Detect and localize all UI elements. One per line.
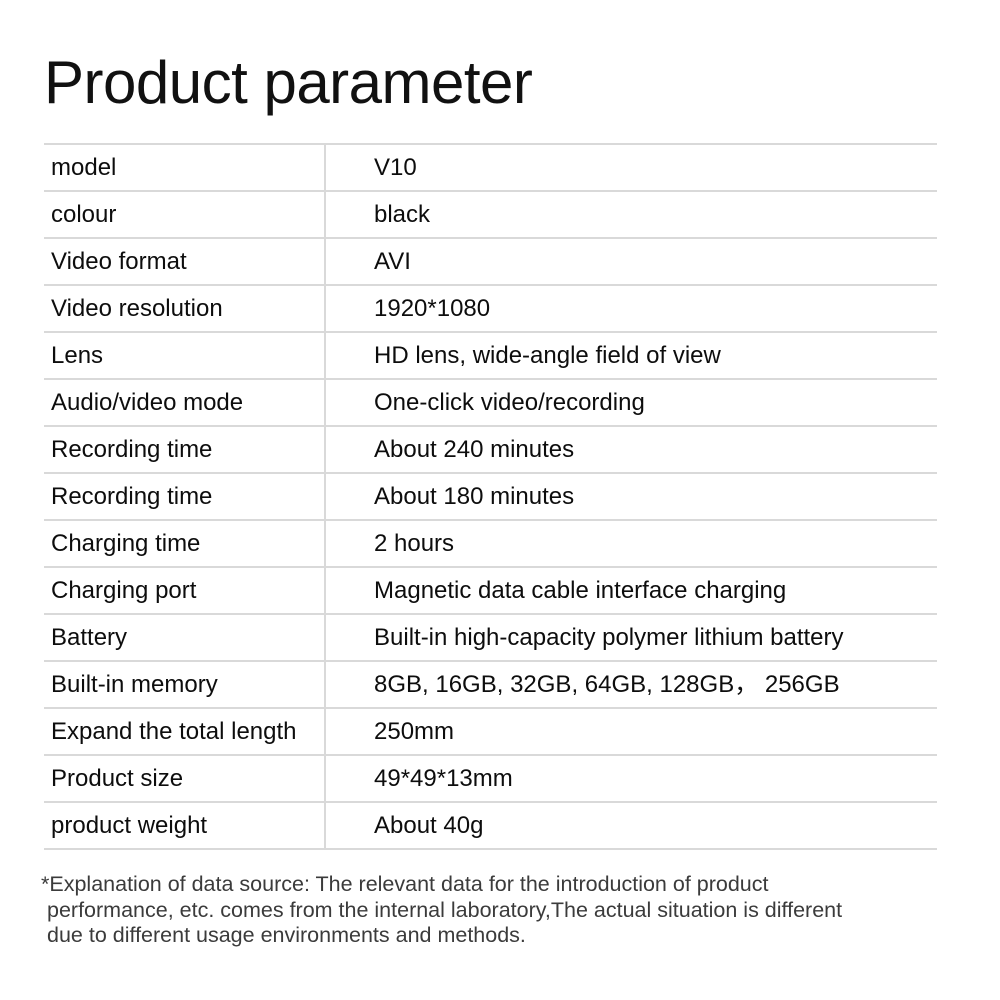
spec-label: Product size xyxy=(44,755,325,802)
spec-value: About 180 minutes xyxy=(325,473,937,520)
spec-label: Video format xyxy=(44,238,325,285)
spec-value: black xyxy=(325,191,937,238)
spec-value: Magnetic data cable interface charging xyxy=(325,567,937,614)
spec-label: Battery xyxy=(44,614,325,661)
data-source-footnote: *Explanation of data source: The relevan… xyxy=(41,872,877,949)
spec-value: 49*49*13mm xyxy=(325,755,937,802)
spec-label: Built-in memory xyxy=(44,661,325,708)
table-row: colour black xyxy=(44,191,937,238)
spec-value: About 240 minutes xyxy=(325,426,937,473)
spec-value: 8GB, 16GB, 32GB, 64GB, 128GB， 256GB xyxy=(325,661,937,708)
spec-label: Recording time xyxy=(44,473,325,520)
spec-label: Charging port xyxy=(44,567,325,614)
table-row: product weight About 40g xyxy=(44,802,937,849)
spec-value: AVI xyxy=(325,238,937,285)
spec-label: Audio/video mode xyxy=(44,379,325,426)
spec-label: Expand the total length xyxy=(44,708,325,755)
specification-table-body: model V10 colour black Video format AVI … xyxy=(44,144,937,849)
table-row: Charging time 2 hours xyxy=(44,520,937,567)
spec-value: 2 hours xyxy=(325,520,937,567)
table-row: model V10 xyxy=(44,144,937,191)
spec-label: colour xyxy=(44,191,325,238)
spec-value: 250mm xyxy=(325,708,937,755)
spec-label: product weight xyxy=(44,802,325,849)
spec-value: 1920*1080 xyxy=(325,285,937,332)
spec-label: Video resolution xyxy=(44,285,325,332)
product-parameter-page: Product parameter model V10 colour black… xyxy=(0,0,1000,1000)
spec-value: Built-in high-capacity polymer lithium b… xyxy=(325,614,937,661)
table-row: Video format AVI xyxy=(44,238,937,285)
table-row: Audio/video mode One-click video/recordi… xyxy=(44,379,937,426)
spec-label: model xyxy=(44,144,325,191)
spec-value: One-click video/recording xyxy=(325,379,937,426)
spec-label: Recording time xyxy=(44,426,325,473)
table-row: Built-in memory 8GB, 16GB, 32GB, 64GB, 1… xyxy=(44,661,937,708)
table-row: Recording time About 180 minutes xyxy=(44,473,937,520)
table-row: Charging port Magnetic data cable interf… xyxy=(44,567,937,614)
table-row: Battery Built-in high-capacity polymer l… xyxy=(44,614,937,661)
table-row: Lens HD lens, wide-angle field of view xyxy=(44,332,937,379)
specification-table: model V10 colour black Video format AVI … xyxy=(44,143,937,850)
spec-label: Charging time xyxy=(44,520,325,567)
table-row: Expand the total length 250mm xyxy=(44,708,937,755)
page-title: Product parameter xyxy=(44,47,532,119)
table-row: Video resolution 1920*1080 xyxy=(44,285,937,332)
table-row: Recording time About 240 minutes xyxy=(44,426,937,473)
spec-value: About 40g xyxy=(325,802,937,849)
spec-label: Lens xyxy=(44,332,325,379)
table-row: Product size 49*49*13mm xyxy=(44,755,937,802)
spec-value: HD lens, wide-angle field of view xyxy=(325,332,937,379)
spec-value: V10 xyxy=(325,144,937,191)
